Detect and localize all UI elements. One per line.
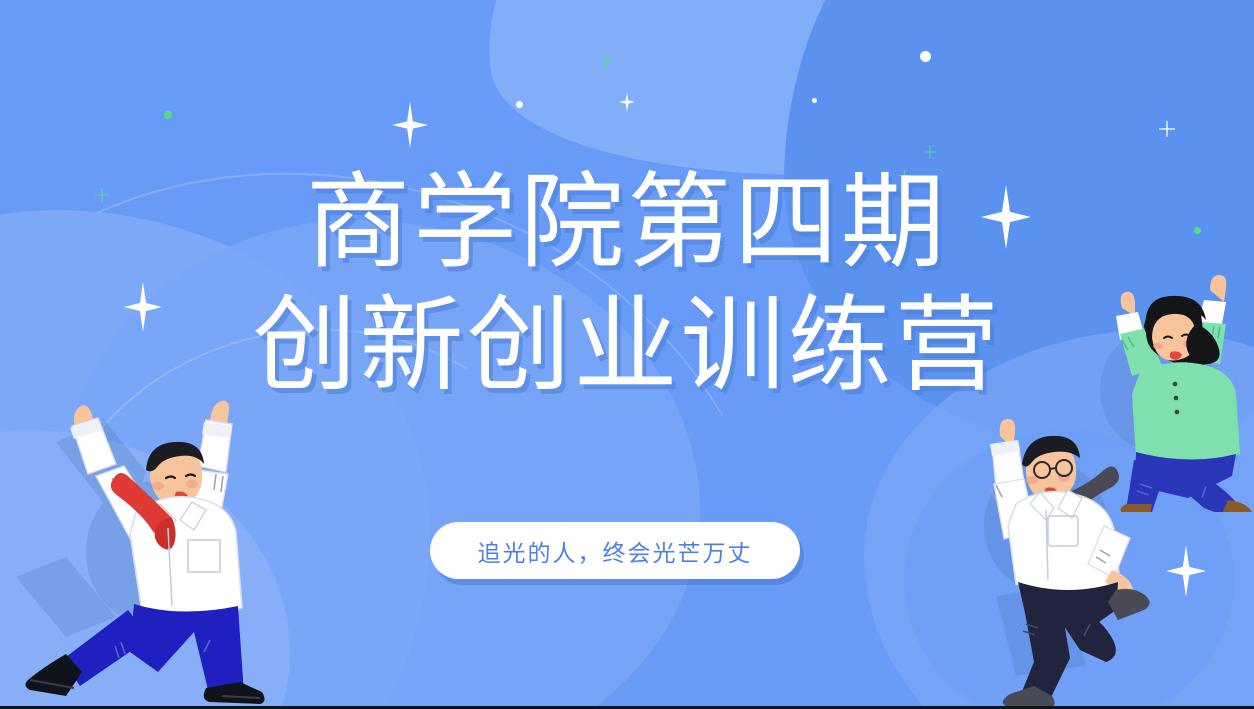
dot-icon: [920, 51, 931, 62]
subtitle-pill[interactable]: 追光的人，终会光芒万丈: [430, 522, 800, 579]
dot-icon: [516, 101, 523, 108]
presentation-slide: 商学院第四期 创新创业训练营 追光的人，终会光芒万丈: [0, 0, 1254, 709]
dot-icon: [812, 98, 817, 103]
illustration-jumping-man-red-tie: [10, 392, 300, 709]
dot-icon: [164, 111, 172, 119]
dot-icon: [1194, 227, 1201, 234]
illustration-cheering-woman-green-top: [1078, 272, 1254, 512]
subtitle-text: 追光的人，终会光芒万丈: [478, 534, 753, 568]
